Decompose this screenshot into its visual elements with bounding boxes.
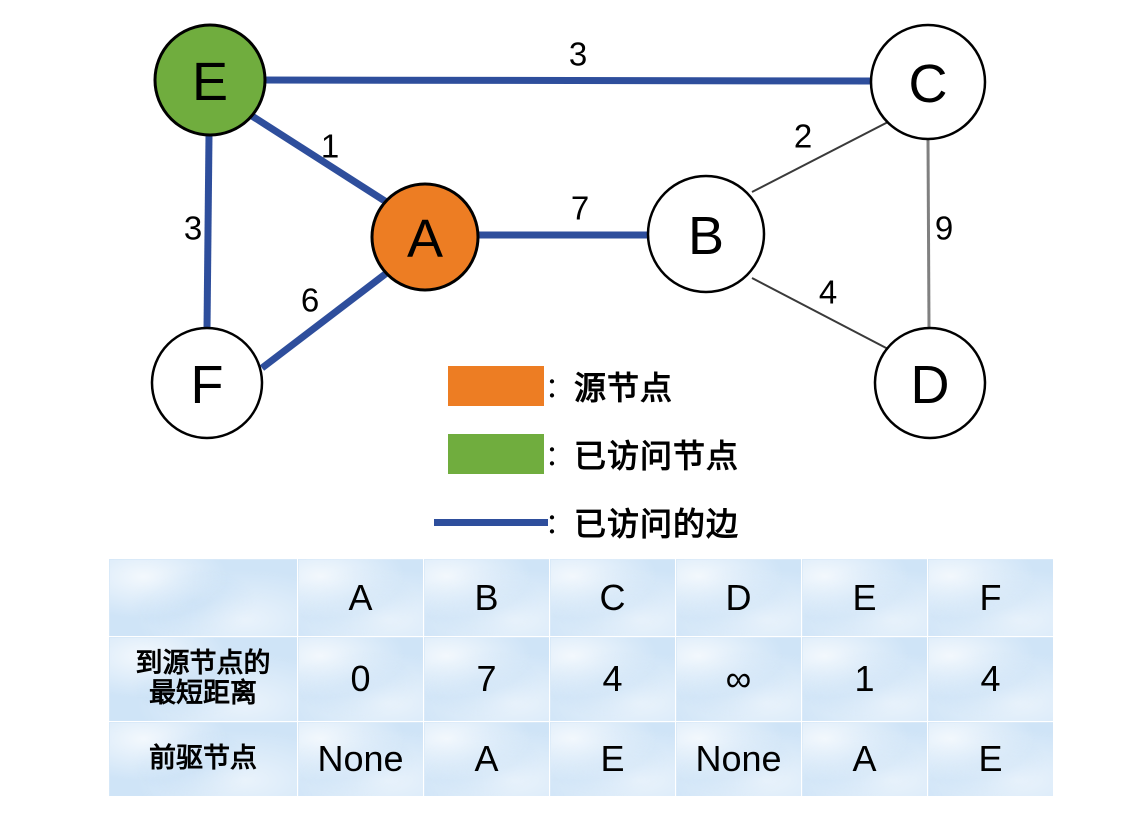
- legend-label-source-node: 源节点: [574, 363, 673, 409]
- edge-E-F: [207, 135, 209, 329]
- node-F[interactable]: F: [152, 328, 262, 438]
- cell-distance-C: 4: [550, 637, 676, 722]
- node-A-label: A: [407, 209, 443, 269]
- edge-weight-F-A: 6: [301, 282, 319, 319]
- cell-distance-F: 4: [928, 637, 1054, 722]
- table-header-C: C: [550, 559, 676, 637]
- edge-weight-E-C: 3: [569, 36, 587, 73]
- edge-weight-E-A: 1: [321, 128, 339, 165]
- node-F-label: F: [191, 355, 224, 415]
- legend-label-visited-node: 已访问节点: [574, 431, 739, 477]
- table-row-predecessor: 前驱节点 None A E None A E: [109, 722, 1054, 797]
- table-header-E: E: [802, 559, 928, 637]
- legend-separator-0: ：: [544, 366, 574, 406]
- node-D-label: D: [911, 355, 950, 415]
- legend-item-visited-node: ： 已访问节点: [428, 420, 848, 488]
- edge-B-C: [752, 122, 888, 192]
- node-B-label: B: [688, 206, 724, 266]
- edge-weight-B-D: 4: [819, 274, 837, 311]
- legend: ： 源节点 ： 已访问节点 ： 已访问的边: [428, 352, 848, 556]
- edge-weight-A-B: 7: [571, 190, 589, 227]
- node-C-label: C: [909, 54, 948, 114]
- row-label-predecessor: 前驱节点: [109, 722, 298, 797]
- node-E-label: E: [192, 52, 228, 112]
- cell-predecessor-B: A: [424, 722, 550, 797]
- cell-predecessor-E: A: [802, 722, 928, 797]
- green-swatch-icon: [448, 434, 544, 474]
- table-header-B: B: [424, 559, 550, 637]
- edge-E-C: [258, 80, 872, 81]
- table-header-A: A: [298, 559, 424, 637]
- legend-separator-2: ：: [544, 502, 574, 542]
- cell-distance-B: 7: [424, 637, 550, 722]
- table-header-row: A B C D E F: [109, 559, 1054, 637]
- orange-swatch-icon: [448, 366, 544, 406]
- legend-item-visited-edge: ： 已访问的边: [428, 488, 848, 556]
- legend-label-visited-edge: 已访问的边: [574, 499, 739, 545]
- table-corner-cell: [109, 559, 298, 637]
- legend-swatch-cell: [428, 434, 544, 474]
- cell-predecessor-A: None: [298, 722, 424, 797]
- node-A[interactable]: A: [372, 184, 478, 290]
- table-header-D: D: [676, 559, 802, 637]
- table-row-distance: 到源节点的最短距离 0 7 4 ∞ 1 4: [109, 637, 1054, 722]
- edge-F-A: [262, 272, 388, 368]
- cell-predecessor-C: E: [550, 722, 676, 797]
- row-label-distance-line1: 到源节点的: [136, 648, 271, 679]
- cell-distance-A: 0: [298, 637, 424, 722]
- cell-distance-D: ∞: [676, 637, 802, 722]
- edge-weight-C-D: 9: [935, 210, 953, 247]
- node-D[interactable]: D: [875, 328, 985, 438]
- cell-predecessor-D: None: [676, 722, 802, 797]
- edge-weight-E-F: 3: [184, 210, 202, 247]
- distance-table: A B C D E F 到源节点的最短距离 0 7 4 ∞ 1 4 前驱节点 N…: [108, 558, 1054, 797]
- node-E[interactable]: E: [155, 25, 265, 135]
- row-label-distance-line2: 最短距离: [149, 678, 257, 709]
- node-C[interactable]: C: [871, 25, 985, 139]
- row-label-distance: 到源节点的最短距离: [109, 637, 298, 722]
- legend-swatch-cell: [428, 366, 544, 406]
- legend-swatch-cell: [428, 519, 544, 526]
- edge-C-D: [928, 139, 929, 328]
- cell-predecessor-F: E: [928, 722, 1054, 797]
- blue-line-icon: [434, 519, 548, 526]
- node-B[interactable]: B: [648, 176, 764, 292]
- legend-separator-1: ：: [544, 434, 574, 474]
- legend-item-source-node: ： 源节点: [428, 352, 848, 420]
- cell-distance-E: 1: [802, 637, 928, 722]
- edge-weight-B-C: 2: [794, 118, 812, 155]
- table-header-F: F: [928, 559, 1054, 637]
